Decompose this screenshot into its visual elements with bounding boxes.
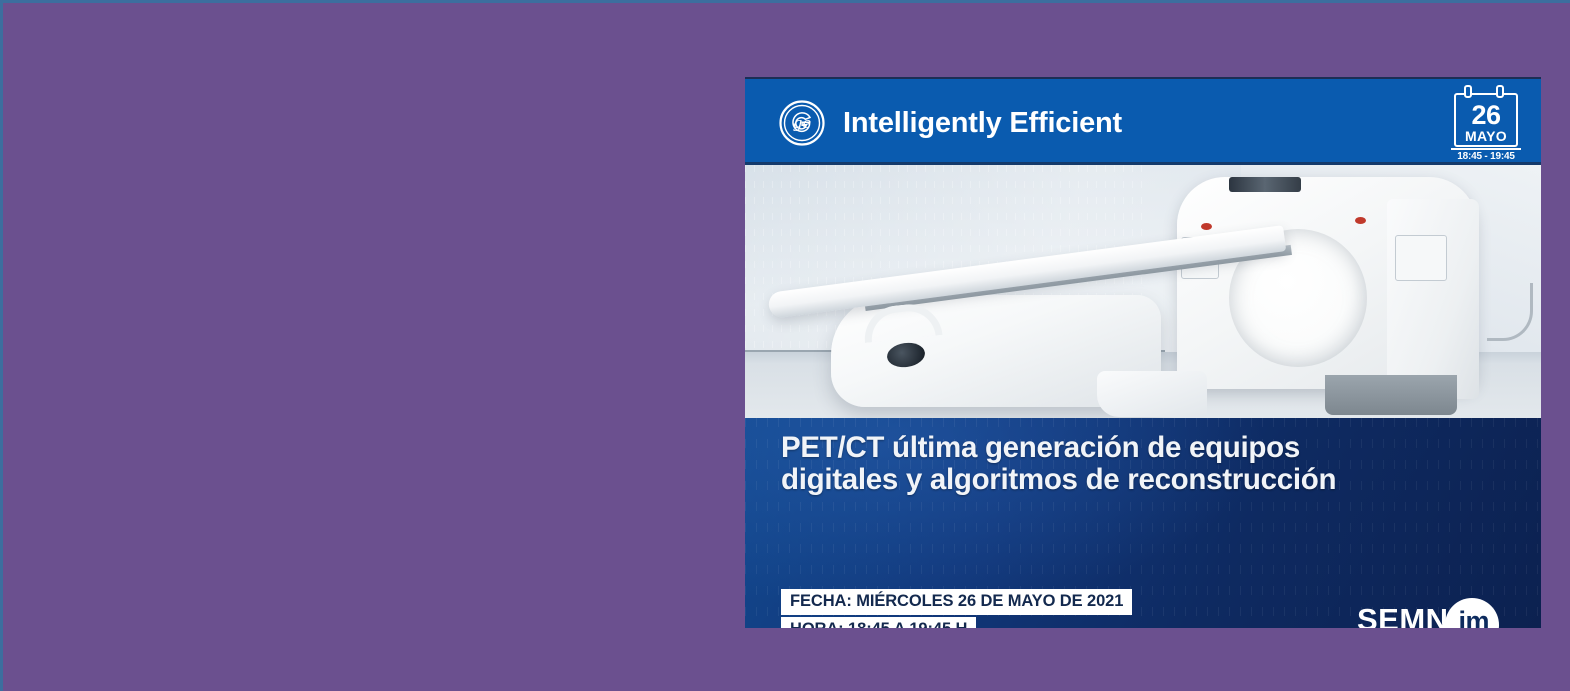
session-title-line-1: PET/CT última generación de equipos (781, 432, 1391, 464)
gantry-indicator-left (1201, 223, 1212, 230)
pet-ct-scanner-photo (745, 165, 1541, 418)
semnim-badge-text: im (1458, 608, 1489, 628)
banner-body: PET/CT última generación de equipos digi… (745, 418, 1541, 628)
svg-text:ge: ge (793, 114, 812, 132)
gantry-control-panel (1395, 235, 1447, 281)
date-badge: 26 MAYO 18:45 - 19:45 (1450, 84, 1522, 160)
session-time: HORA: 18:45 A 19:45 H (781, 617, 976, 628)
semnim-wordmark: SEMN (1357, 604, 1449, 628)
date-badge-month: MAYO (1450, 129, 1522, 143)
session-date: FECHA: MIÉRCOLES 26 DE MAYO DE 2021 (781, 589, 1132, 615)
patient-table-foot (1097, 371, 1207, 417)
ge-monogram-logo: ge (779, 100, 825, 146)
calendar-ring-right (1496, 85, 1504, 98)
date-badge-day: 26 (1450, 103, 1522, 128)
session-title: PET/CT última generación de equipos digi… (781, 432, 1391, 496)
calendar-ring-left (1464, 85, 1472, 98)
session-title-line-2: digitales y algoritmos de reconstrucción (781, 464, 1391, 496)
banner-header: ge Intelligently Efficient 26 MAYO 18:45… (745, 77, 1541, 165)
gantry-indicator-right (1355, 217, 1366, 224)
gantry-display-screen (1229, 177, 1301, 192)
gantry-base (1325, 375, 1457, 415)
header-title: Intelligently Efficient (843, 107, 1122, 140)
date-badge-time: 18:45 - 19:45 (1451, 148, 1521, 162)
ct-gantry (1177, 177, 1477, 389)
gantry-side-cabinet (1387, 199, 1479, 399)
webinar-banner-card[interactable]: ge Intelligently Efficient 26 MAYO 18:45… (745, 77, 1541, 628)
semnim-logo[interactable]: SEMN im Sociedad Española de Medicina Nu… (1357, 596, 1499, 628)
